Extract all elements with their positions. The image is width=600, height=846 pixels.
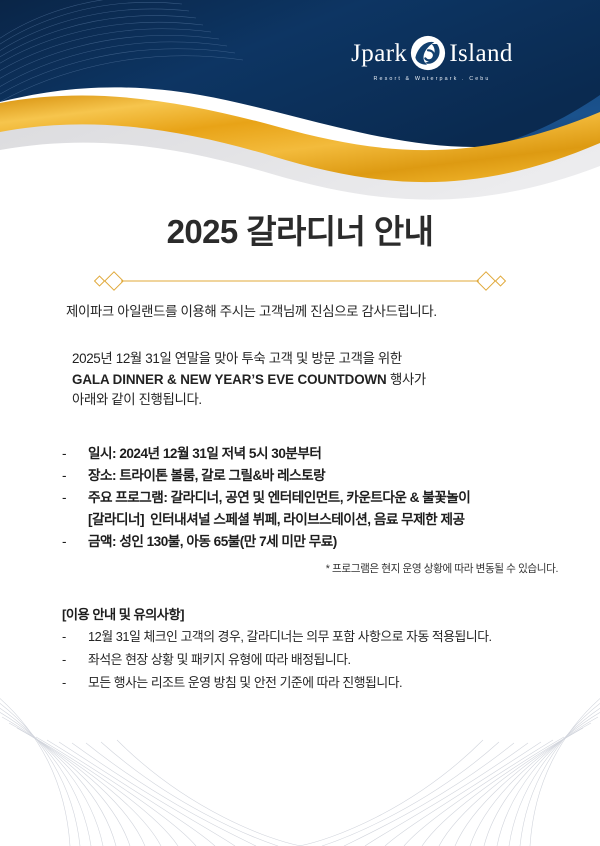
event-name-suffix: 행사가 <box>387 372 426 387</box>
bullet-dash: - <box>62 531 88 553</box>
event-name-line: GALA DINNER & NEW YEAR’S EVE COUNTDOWN 행… <box>72 370 574 391</box>
footer-decoration <box>0 696 600 846</box>
detail-datetime: 일시: 2024년 12월 31일 저녁 5시 30분부터 <box>88 443 586 465</box>
bullet-dash: - <box>62 487 88 509</box>
notices-heading: [이용 안내 및 유의사항] <box>62 604 592 623</box>
bullet-dash: - <box>62 443 88 465</box>
list-item: - 좌석은 현장 상황 및 패키지 유형에 따라 배정됩니다. <box>62 649 592 672</box>
event-closing-line: 아래와 같이 진행됩니다. <box>72 390 574 411</box>
notices-section: [이용 안내 및 유의사항] - 12월 31일 체크인 고객의 경우, 갈라디… <box>0 604 600 694</box>
bullet-dash: - <box>62 649 88 672</box>
bullet-dash: - <box>62 626 88 649</box>
title-area: 2025 갈라디너 안내 <box>0 212 600 252</box>
detail-gala-text: 인터내셔널 스페셜 뷔페, 라이브스테이션, 음료 무제한 제공 <box>150 509 464 531</box>
intro-paragraph: 제이파크 아일랜드를 이용해 주시는 고객님께 진심으로 감사드립니다. <box>0 302 600 323</box>
page-title: 2025 갈라디너 안내 <box>0 212 600 252</box>
notice-policy: 모든 행사는 리조트 운영 방침 및 안전 기준에 따라 진행됩니다. <box>88 672 592 695</box>
list-item: - 모든 행사는 리조트 운영 방침 및 안전 기준에 따라 진행됩니다. <box>62 672 592 695</box>
event-name: GALA DINNER & NEW YEAR’S EVE COUNTDOWN <box>72 372 387 387</box>
event-lead-line: 2025년 12월 31일 연말을 맞아 투숙 고객 및 방문 고객을 위한 <box>72 349 574 370</box>
notice-seating: 좌석은 현장 상황 및 패키지 유형에 따라 배정됩니다. <box>88 649 592 672</box>
section-divider <box>0 270 600 292</box>
event-paragraph: 2025년 12월 31일 연말을 맞아 투숙 고객 및 방문 고객을 위한 G… <box>0 349 600 411</box>
list-item: - 금액: 성인 130불, 아동 65불(만 7세 미만 무료) <box>62 531 586 553</box>
decorative-arc-lines-bottom-left <box>0 696 301 846</box>
detail-program: 주요 프로그램: 갈라디너, 공연 및 엔터테인먼트, 카운트다운 & 불꽃놀이 <box>88 487 586 509</box>
header-wave-graphic <box>0 0 600 210</box>
poster-content: 제이파크 아일랜드를 이용해 주시는 고객님께 진심으로 감사드립니다. 202… <box>0 302 600 694</box>
list-item: - 일시: 2024년 12월 31일 저녁 5시 30분부터 <box>62 443 586 465</box>
bullet-dash: - <box>62 465 88 487</box>
list-item: - 12월 31일 체크인 고객의 경우, 갈라디너는 의무 포함 사항으로 자… <box>62 626 592 649</box>
program-footnote: * 프로그램은 현지 운영 상황에 따라 변동될 수 있습니다. <box>62 561 586 576</box>
header-banner: Jpark Island Resort & Waterpark . Cebu <box>0 0 600 210</box>
detail-price: 금액: 성인 130불, 아동 65불(만 7세 미만 무료) <box>88 531 586 553</box>
event-details-list: - 일시: 2024년 12월 31일 저녁 5시 30분부터 - 장소: 트라… <box>0 443 600 576</box>
list-item: - 주요 프로그램: 갈라디너, 공연 및 엔터테인먼트, 카운트다운 & 불꽃… <box>62 487 586 509</box>
list-item-sub: [갈라디너] 인터내셔널 스페셜 뷔페, 라이브스테이션, 음료 무제한 제공 <box>62 509 586 531</box>
gala-dinner-poster: Jpark Island Resort & Waterpark . Cebu 2… <box>0 0 600 846</box>
list-item: - 장소: 트라이톤 볼룸, 갈로 그릴&바 레스토랑 <box>62 465 586 487</box>
detail-venue: 장소: 트라이톤 볼룸, 갈로 그릴&바 레스토랑 <box>88 465 586 487</box>
detail-gala-tag: [갈라디너] <box>88 509 144 531</box>
bullet-dash: - <box>62 672 88 695</box>
decorative-arc-lines-bottom-right <box>299 696 600 846</box>
notice-checkin: 12월 31일 체크인 고객의 경우, 갈라디너는 의무 포함 사항으로 자동 … <box>88 626 592 649</box>
